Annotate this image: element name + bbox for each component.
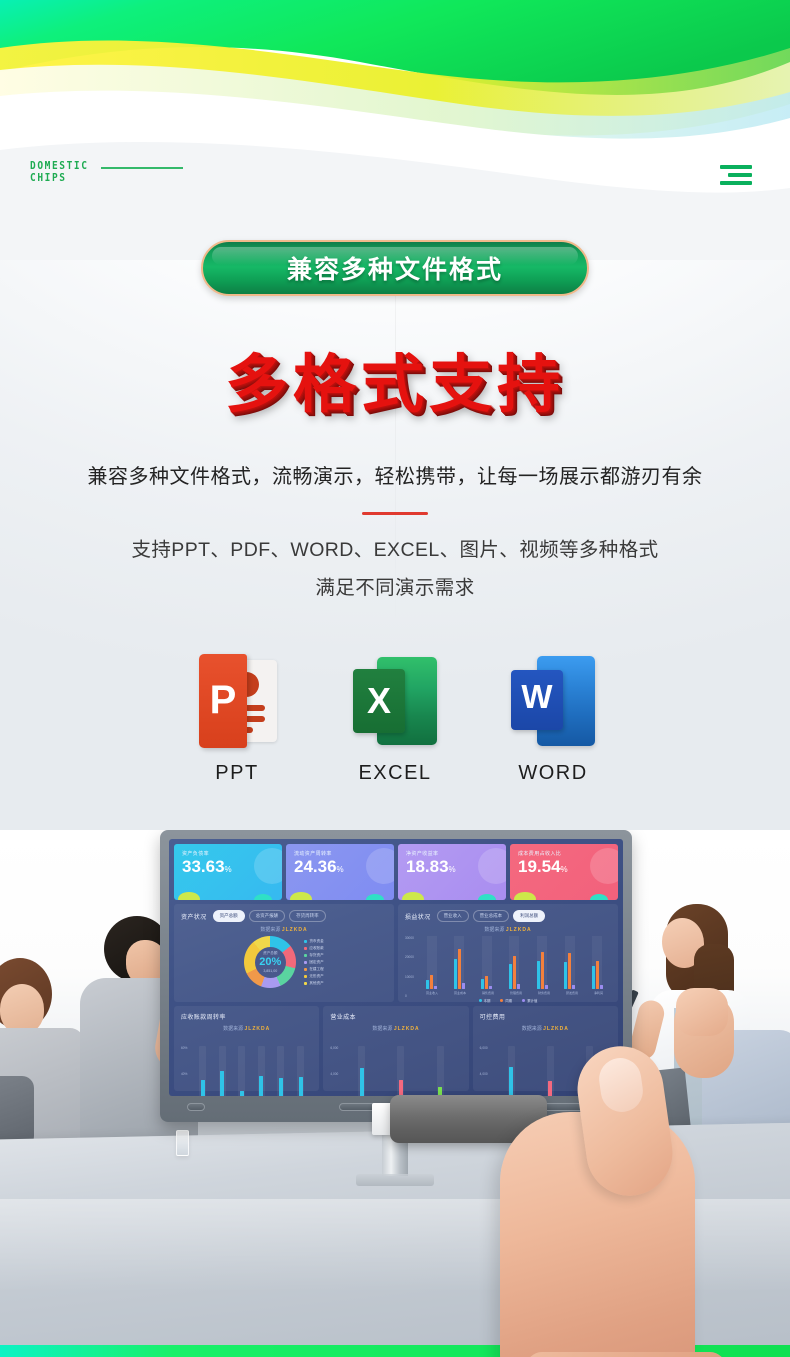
wave-graphic xyxy=(0,0,790,260)
kpi-card: 成本费用占收入比 19.54% xyxy=(510,844,618,900)
donut-value: 20% xyxy=(259,956,281,968)
kpi-card: 流动资产周转率 24.36% xyxy=(286,844,394,900)
panel-watermark: 数据来源 JLZKDA xyxy=(480,1025,611,1032)
panel-chip[interactable]: 存货周转率 xyxy=(289,910,326,922)
kpi-value: 33.63% xyxy=(182,857,282,877)
description-sub-line1: 支持PPT、PDF、WORD、EXCEL、图片、视频等多种格式 xyxy=(0,531,790,569)
donut-center: 资产总额 20% 3,851,00 xyxy=(259,951,281,972)
panel-profit-loss: 损益状况 营业收入 营业总成本 利润总额 数据来源 JLZKDA xyxy=(398,904,618,1002)
description-divider xyxy=(362,512,428,515)
panel-watermark: 数据来源 JLZKDA xyxy=(181,1025,312,1032)
panel-title: 可控费用 xyxy=(480,1012,611,1021)
panel-watermark: 数据来源 JLZKDA xyxy=(181,926,387,933)
excel-icon: X xyxy=(347,650,443,752)
excel-letter: X xyxy=(353,683,405,719)
panel-watermark: 数据来源 JLZKDA xyxy=(405,926,611,933)
panel-watermark: 数据来源 JLZKDA xyxy=(330,1025,461,1032)
panel-chip-group: 营业收入 营业总成本 利润总额 xyxy=(437,910,546,922)
donut-chart: 资产总额 20% 3,851,00 xyxy=(244,936,296,988)
hamburger-bar-3 xyxy=(720,181,752,185)
panel-title: 应收账款周转率 xyxy=(181,1012,312,1021)
bar-chart-columns xyxy=(342,1046,459,1096)
kpi-value: 24.36% xyxy=(294,857,394,877)
powerpoint-icon: P xyxy=(189,650,285,752)
kpi-label: 成本费用占收入比 xyxy=(518,850,618,857)
brand-logo-line2: CHIPS xyxy=(30,172,89,185)
format-label-ppt: PPT xyxy=(189,762,285,785)
kpi-row: 资产负债率 33.63% 流动资产周转率 24.36% 净资产收益率 18.83… xyxy=(174,844,618,900)
powerpoint-tile: P xyxy=(199,654,247,748)
kpi-value: 19.54% xyxy=(518,857,618,877)
bar-chart-y-axis: 30000 20000 10000 0 xyxy=(405,936,414,998)
panel-operating-cost: 营业成本 数据来源 JLZKDA 6,000 4,000 2,000 xyxy=(323,1006,468,1091)
header-wave-banner xyxy=(0,0,790,260)
format-item-excel[interactable]: X EXCEL xyxy=(347,650,443,785)
donut-chart-wrap: 资产总额 20% 3,851,00 货币资金 应收账款 存货资产 固定 xyxy=(181,933,387,991)
hand-holding-dongle xyxy=(470,1052,770,1357)
bar-chart: 60% 40% 20% xyxy=(181,1032,312,1096)
legend-item: 同期 xyxy=(500,998,512,1003)
format-label-word: WORD xyxy=(505,762,601,785)
legend-item: 在建工程 xyxy=(304,967,323,972)
dashboard-mid-row: 资产状况 资产总额 总资产报酬 存货周转率 数据来源 JLZKDA xyxy=(174,904,618,1002)
powerpoint-letter: P xyxy=(199,680,247,720)
word-letter: W xyxy=(511,680,563,713)
page-title: 多格式支持 xyxy=(0,334,790,425)
kpi-card: 净资产收益率 18.83% xyxy=(398,844,506,900)
panel-chip[interactable]: 总资产报酬 xyxy=(249,910,286,922)
excel-tile: X xyxy=(353,669,405,733)
grouped-bar-chart: 30000 20000 10000 0 xyxy=(405,936,611,998)
format-icon-row: P PPT X EXCEL W WORD xyxy=(0,650,790,785)
kpi-card: 资产负债率 33.63% xyxy=(174,844,282,900)
person-left-woman xyxy=(0,958,78,1138)
panel-receivables-turnover: 应收账款周转率 数据来源 JLZKDA 60% 40% 20% xyxy=(174,1006,319,1091)
format-label-excel: EXCEL xyxy=(347,762,443,785)
bar-chart-y-axis: 60% 40% 20% xyxy=(181,1046,187,1096)
panel-chip[interactable]: 营业总成本 xyxy=(473,910,510,922)
legend-item: 固定资产 xyxy=(304,960,323,965)
meeting-room-scene: 资产负债率 33.63% 流动资产周转率 24.36% 净资产收益率 18.83… xyxy=(0,830,790,1357)
bar-chart-columns xyxy=(193,1046,310,1096)
brand-logo-rule xyxy=(101,167,183,169)
panel-title: 营业成本 xyxy=(330,1012,461,1021)
bar-chart-series xyxy=(418,936,611,989)
bar-chart: 6,000 4,000 2,000 xyxy=(330,1032,461,1096)
bar-chart-y-axis: 6,000 4,000 2,000 xyxy=(330,1046,338,1096)
panel-header: 损益状况 营业收入 营业总成本 利润总额 xyxy=(405,910,611,922)
bar-chart-legend: 本期 同期 累计值 xyxy=(405,998,611,1003)
word-tile: W xyxy=(511,670,563,730)
description-lead: 兼容多种文件格式，流畅演示，轻松携带，让每一场展示都游刃有余 xyxy=(0,462,790,492)
donut-bottom-label: 3,851,00 xyxy=(259,969,281,973)
hamburger-bar-1 xyxy=(720,165,752,169)
section-badge[interactable]: 兼容多种文件格式 xyxy=(201,240,589,296)
legend-item: 存货资产 xyxy=(304,953,323,958)
hamburger-bar-2 xyxy=(728,173,752,177)
format-item-word[interactable]: W WORD xyxy=(505,650,601,785)
legend-item: 无形资产 xyxy=(304,974,323,979)
display-base xyxy=(356,1174,434,1186)
format-item-ppt[interactable]: P PPT xyxy=(189,650,285,785)
brand-logo-text: DOMESTIC CHIPS xyxy=(30,160,89,183)
panel-chip[interactable]: 利润总额 xyxy=(513,910,545,922)
word-icon: W xyxy=(505,650,601,752)
panel-chip[interactable]: 资产总额 xyxy=(213,910,245,922)
panel-title: 损益状况 xyxy=(405,912,431,921)
promo-page: DOMESTIC CHIPS 兼容多种文件格式 多格式支持 兼容多种文件格式，流… xyxy=(0,0,790,1357)
legend-item: 累计值 xyxy=(522,998,537,1003)
bar-chart-x-labels: 营业收入 营业成本 销售费用 管理费用 财务费用 研发费用 净利润 xyxy=(418,991,611,995)
description-sub-line2: 满足不同演示需求 xyxy=(0,569,790,607)
panel-title: 资产状况 xyxy=(181,912,207,921)
kpi-label: 流动资产周转率 xyxy=(294,850,394,857)
panel-asset-status: 资产状况 资产总额 总资产报酬 存货周转率 数据来源 JLZKDA xyxy=(174,904,394,1002)
legend-item: 货币资金 xyxy=(304,939,323,944)
section-badge-label: 兼容多种文件格式 xyxy=(287,250,503,286)
panel-chip[interactable]: 营业收入 xyxy=(437,910,469,922)
legend-item: 本期 xyxy=(479,998,491,1003)
donut-legend: 货币资金 应收账款 存货资产 固定资产 在建工程 无形资产 其他资产 xyxy=(304,939,323,986)
water-glass-1 xyxy=(176,1130,189,1156)
wrist xyxy=(526,1352,726,1357)
panel-header: 资产状况 资产总额 总资产报酬 存货周转率 xyxy=(181,910,387,922)
legend-item: 应收账款 xyxy=(304,946,323,951)
kpi-label: 资产负债率 xyxy=(182,850,282,857)
brand-logo[interactable]: DOMESTIC CHIPS xyxy=(30,160,183,183)
legend-item: 其他资产 xyxy=(304,981,323,986)
kpi-value: 18.83% xyxy=(406,857,506,877)
section-badge-wrap: 兼容多种文件格式 xyxy=(0,240,790,296)
hamburger-menu-icon[interactable] xyxy=(720,165,752,191)
description-block: 兼容多种文件格式，流畅演示，轻松携带，让每一场展示都游刃有余 支持PPT、PDF… xyxy=(0,462,790,607)
kpi-label: 净资产收益率 xyxy=(406,850,506,857)
panel-chip-group: 资产总额 总资产报酬 存货周转率 xyxy=(213,910,326,922)
